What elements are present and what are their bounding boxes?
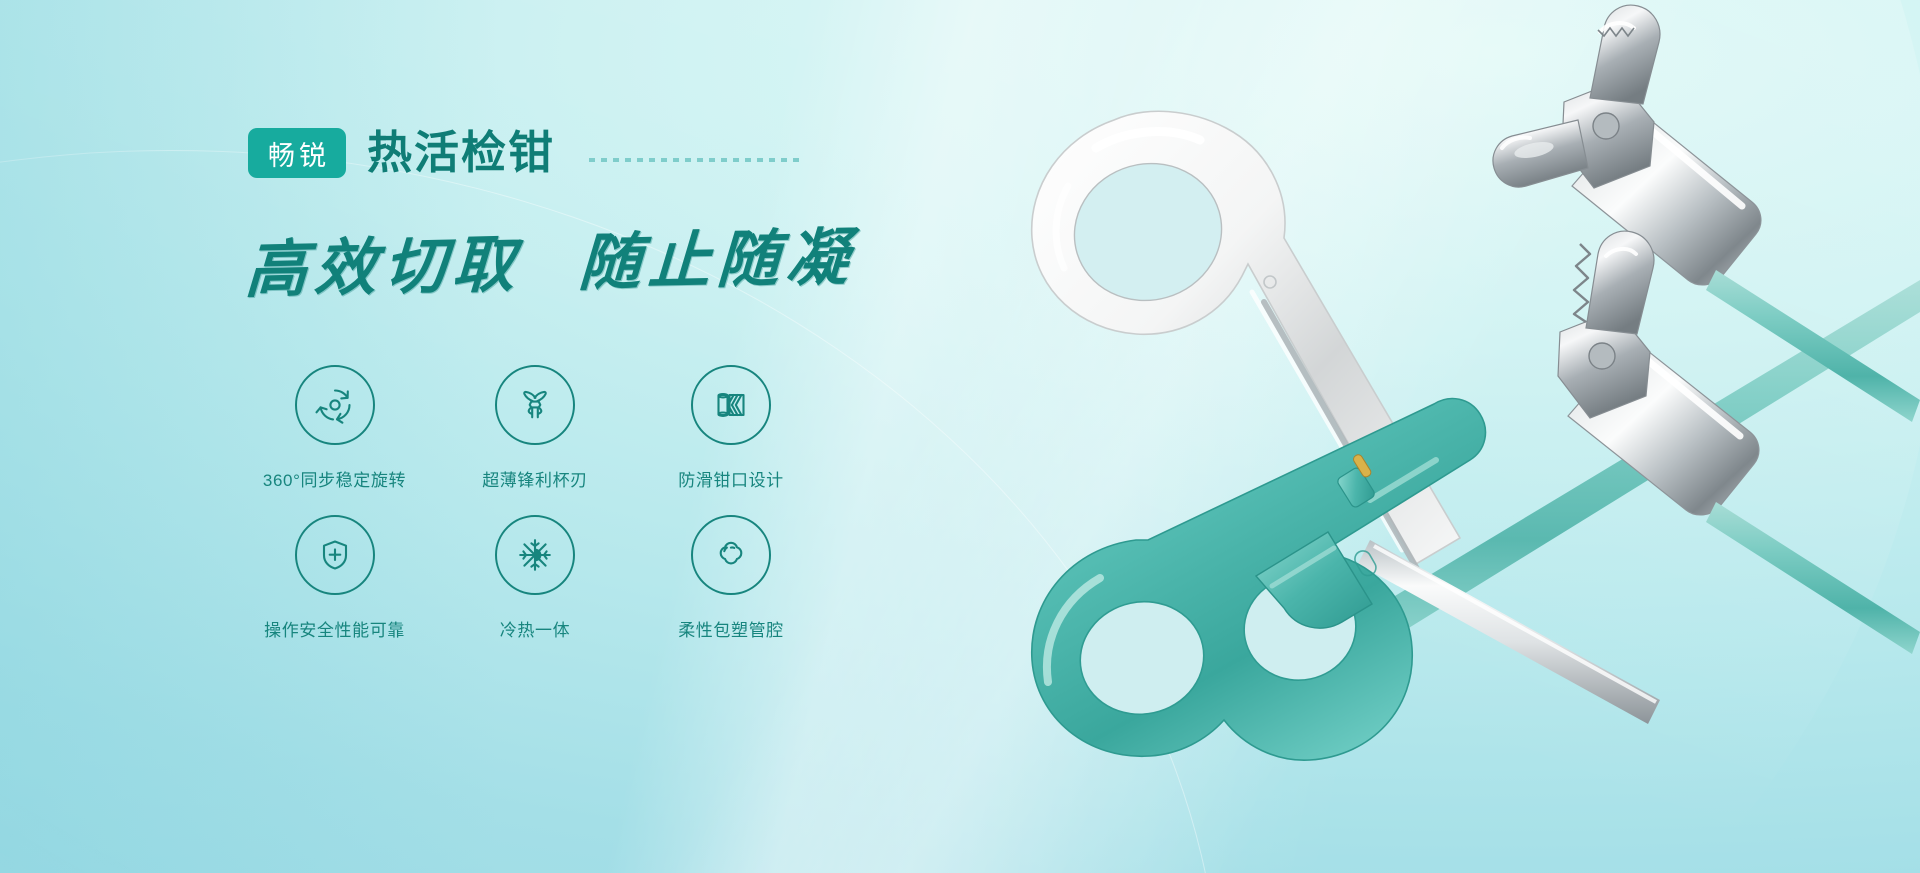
feature-item-flexible-lumen: 柔性包塑管腔	[633, 515, 829, 665]
thin-sharp-cup-icon	[495, 365, 575, 445]
feature-item-anti-slip: 防滑钳口设计	[633, 365, 829, 515]
product-image-hot-biopsy-forceps	[900, 0, 1920, 873]
rotate-360-icon	[295, 365, 375, 445]
feature-label: 柔性包塑管腔	[678, 616, 784, 641]
page-title: 热活检钳	[367, 128, 555, 178]
flexible-lumen-icon	[691, 515, 771, 595]
feature-label: 冷热一体	[500, 616, 570, 641]
feature-grid: 360°同步稳定旋转 超薄锋利杯刃	[232, 365, 829, 665]
feature-item-cup-blade: 超薄锋利杯刃	[437, 365, 633, 515]
slogan-text: 高效切取 随止随凝	[243, 207, 857, 310]
banner-stage: 畅锐 热活检钳 高效切取 随止随凝 360°同步稳定旋转	[0, 0, 1920, 873]
feature-item-hot-cold: 冷热一体	[437, 515, 633, 665]
feature-label: 超薄锋利杯刃	[482, 466, 588, 491]
feature-label: 防滑钳口设计	[678, 466, 784, 491]
headline-block: 畅锐 热活检钳	[248, 128, 801, 178]
anti-slip-jaw-icon	[691, 365, 771, 445]
brand-badge: 畅锐	[248, 128, 346, 178]
dotted-divider	[589, 158, 801, 162]
feature-item-rotate: 360°同步稳定旋转	[232, 365, 437, 515]
shield-plus-icon	[295, 515, 375, 595]
feature-label: 360°同步稳定旋转	[263, 466, 406, 491]
hot-cold-sun-icon	[495, 515, 575, 595]
feature-label: 操作安全性能可靠	[264, 616, 405, 641]
feature-item-safety: 操作安全性能可靠	[232, 515, 437, 665]
